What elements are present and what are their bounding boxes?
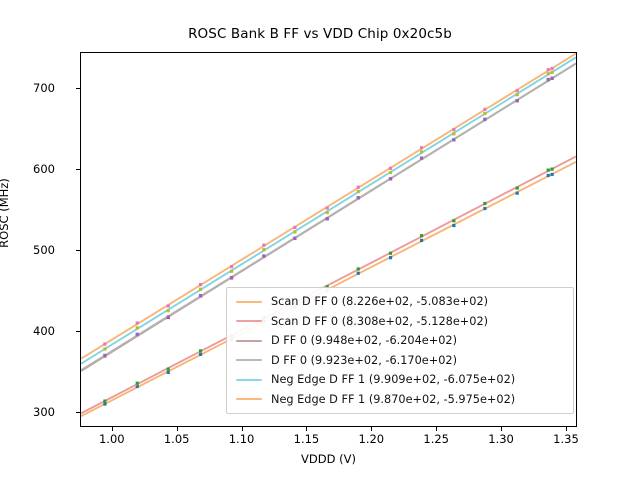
scatter-point bbox=[326, 211, 329, 214]
scatter-point bbox=[357, 196, 360, 199]
legend-color-swatch bbox=[236, 301, 262, 303]
scatter-point bbox=[389, 177, 392, 180]
scatter-point bbox=[167, 367, 170, 370]
x-axis-tick-label: 1.15 bbox=[276, 432, 336, 446]
legend-color-swatch bbox=[236, 379, 262, 381]
scatter-point bbox=[262, 248, 265, 251]
scatter-point bbox=[293, 230, 296, 233]
chart-legend[interactable]: Scan D FF 0 (8.226e+02, -5.083e+02)Scan … bbox=[226, 287, 574, 414]
scatter-point bbox=[547, 169, 550, 172]
legend-label: Neg Edge D FF 1 (9.909e+02, -6.075e+02) bbox=[271, 373, 515, 386]
scatter-point bbox=[420, 234, 423, 237]
scatter-point bbox=[230, 265, 233, 268]
x-axis-tick-mark bbox=[177, 427, 178, 431]
scatter-point bbox=[326, 217, 329, 220]
scatter-point bbox=[103, 354, 106, 357]
legend-label: D FF 0 (9.948e+02, -6.204e+02) bbox=[271, 334, 457, 347]
scatter-point bbox=[103, 402, 106, 405]
x-axis-tick-label: 1.35 bbox=[536, 432, 596, 446]
scatter-point bbox=[483, 118, 486, 121]
scatter-point bbox=[452, 132, 455, 135]
y-axis-tick-label: 500 bbox=[0, 243, 55, 257]
scatter-point bbox=[483, 202, 486, 205]
scatter-point bbox=[550, 173, 553, 176]
scatter-point bbox=[357, 190, 360, 193]
scatter-point bbox=[389, 256, 392, 259]
scatter-point bbox=[516, 186, 519, 189]
scatter-point bbox=[262, 254, 265, 257]
x-axis-tick-mark bbox=[306, 427, 307, 431]
scatter-point bbox=[452, 128, 455, 131]
legend-item[interactable]: Neg Edge D FF 1 (9.870e+02, -5.975e+02) bbox=[233, 390, 567, 410]
legend-item[interactable]: Neg Edge D FF 1 (9.909e+02, -6.075e+02) bbox=[233, 370, 567, 390]
scatter-point bbox=[230, 276, 233, 279]
x-axis-tick-label: 1.20 bbox=[341, 432, 401, 446]
scatter-point bbox=[547, 78, 550, 81]
x-axis-tick-mark bbox=[436, 427, 437, 431]
scatter-point bbox=[326, 206, 329, 209]
scatter-point bbox=[262, 244, 265, 247]
x-axis-tick-label: 1.00 bbox=[82, 432, 142, 446]
scatter-point bbox=[420, 157, 423, 160]
scatter-point bbox=[357, 186, 360, 189]
legend-color-swatch bbox=[236, 340, 262, 342]
x-axis-tick-mark bbox=[371, 427, 372, 431]
scatter-point bbox=[103, 347, 106, 350]
scatter-point bbox=[199, 283, 202, 286]
scatter-point bbox=[547, 174, 550, 177]
legend-label: Neg Edge D FF 1 (9.870e+02, -5.975e+02) bbox=[271, 393, 515, 406]
scatter-point bbox=[357, 267, 360, 270]
scatter-point bbox=[199, 353, 202, 356]
scatter-point bbox=[357, 272, 360, 275]
legend-item[interactable]: D FF 0 (9.948e+02, -6.204e+02) bbox=[233, 331, 567, 351]
scatter-point bbox=[103, 342, 106, 345]
scatter-point bbox=[452, 224, 455, 227]
scatter-point bbox=[516, 99, 519, 102]
scatter-point bbox=[389, 252, 392, 255]
x-axis-tick-label: 1.30 bbox=[471, 432, 531, 446]
scatter-point bbox=[136, 326, 139, 329]
scatter-point bbox=[547, 68, 550, 71]
legend-label: D FF 0 (9.923e+02, -6.170e+02) bbox=[271, 354, 457, 367]
scatter-point bbox=[420, 150, 423, 153]
scatter-point bbox=[199, 349, 202, 352]
legend-color-swatch bbox=[236, 320, 262, 322]
scatter-point bbox=[389, 167, 392, 170]
scatter-point bbox=[483, 108, 486, 111]
scatter-point bbox=[550, 71, 553, 74]
scatter-point bbox=[420, 239, 423, 242]
scatter-point bbox=[516, 93, 519, 96]
y-axis-tick-label: 300 bbox=[0, 405, 55, 419]
scatter-point bbox=[516, 89, 519, 92]
x-axis-tick-label: 1.25 bbox=[406, 432, 466, 446]
scatter-point bbox=[136, 333, 139, 336]
scatter-point bbox=[483, 207, 486, 210]
scatter-point bbox=[230, 270, 233, 273]
scatter-point bbox=[483, 112, 486, 115]
legend-item[interactable]: Scan D FF 0 (8.226e+02, -5.083e+02) bbox=[233, 292, 567, 312]
x-axis-tick-mark bbox=[112, 427, 113, 431]
legend-label: Scan D FF 0 (8.226e+02, -5.083e+02) bbox=[271, 295, 488, 308]
scatter-point bbox=[167, 371, 170, 374]
x-axis-tick-label: 1.10 bbox=[212, 432, 272, 446]
matplotlib-figure: ROSC Bank B FF vs VDD Chip 0x20c5b ROSC … bbox=[0, 0, 640, 480]
x-axis-label: VDDD (V) bbox=[80, 452, 577, 466]
scatter-point bbox=[550, 67, 553, 70]
page-title: ROSC Bank B FF vs VDD Chip 0x20c5b bbox=[0, 26, 640, 42]
y-axis-tick-label: 400 bbox=[0, 324, 55, 338]
scatter-point bbox=[136, 382, 139, 385]
scatter-point bbox=[293, 237, 296, 240]
scatter-point bbox=[516, 192, 519, 195]
y-axis-tick-label: 700 bbox=[0, 81, 55, 95]
scatter-point bbox=[167, 309, 170, 312]
y-axis-label: ROSC (MHz) bbox=[0, 63, 11, 363]
legend-color-swatch bbox=[236, 398, 262, 400]
scatter-point bbox=[550, 77, 553, 80]
x-axis-tick-mark bbox=[242, 427, 243, 431]
scatter-point bbox=[199, 294, 202, 297]
legend-item[interactable]: Scan D FF 0 (8.308e+02, -5.128e+02) bbox=[233, 312, 567, 332]
scatter-point bbox=[452, 138, 455, 141]
scatter-point bbox=[167, 315, 170, 318]
scatter-point bbox=[420, 146, 423, 149]
legend-color-swatch bbox=[236, 359, 262, 361]
x-axis-tick-mark bbox=[501, 427, 502, 431]
scatter-point bbox=[547, 72, 550, 75]
scatter-point bbox=[550, 168, 553, 171]
scatter-point bbox=[103, 399, 106, 402]
x-axis-tick-mark bbox=[566, 427, 567, 431]
scatter-point bbox=[389, 171, 392, 174]
scatter-point bbox=[293, 226, 296, 229]
scatter-point bbox=[167, 304, 170, 307]
scatter-point bbox=[452, 219, 455, 222]
legend-item[interactable]: D FF 0 (9.923e+02, -6.170e+02) bbox=[233, 351, 567, 371]
scatter-point bbox=[199, 288, 202, 291]
scatter-point bbox=[136, 321, 139, 324]
legend-label: Scan D FF 0 (8.308e+02, -5.128e+02) bbox=[271, 315, 488, 328]
y-axis-tick-label: 600 bbox=[0, 162, 55, 176]
x-axis-tick-label: 1.05 bbox=[147, 432, 207, 446]
